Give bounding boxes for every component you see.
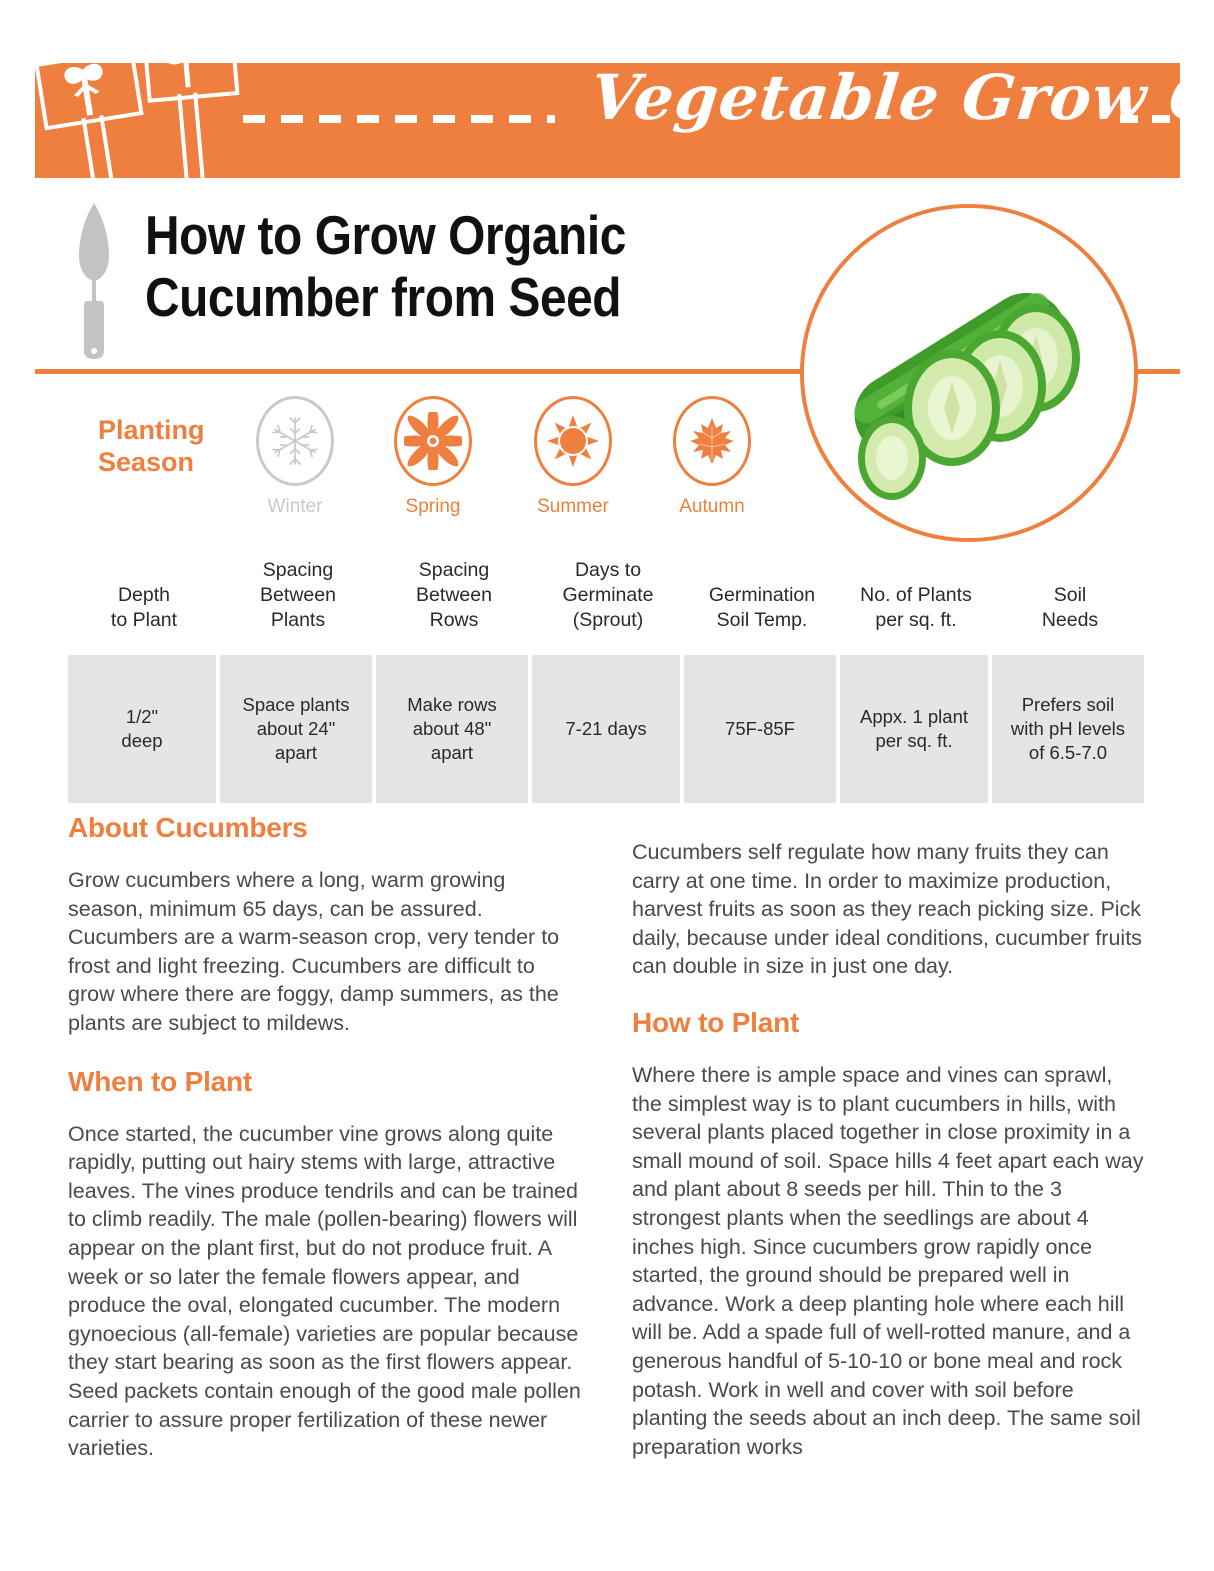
season-ring-summer <box>534 396 612 486</box>
season-summer[interactable]: Summer <box>518 396 628 518</box>
page-title: How to Grow Organic Cucumber from Seed <box>145 205 684 328</box>
season-name-autumn: Autumn <box>657 496 767 518</box>
when-to-plant-heading: When to Plant <box>68 1066 581 1098</box>
planting-season-label-line2: Season <box>98 447 248 479</box>
sprout-glyph-icon <box>157 63 215 92</box>
cucumber-photo <box>800 204 1138 542</box>
cucumber-illustration <box>804 208 1134 538</box>
facts-table-cell: 7-21 days <box>532 655 680 803</box>
season-name-winter: Winter <box>240 496 350 518</box>
facts-table-cell: Make rowsabout 48"apart <box>376 655 528 803</box>
left-column: About Cucumbers Grow cucumbers where a l… <box>68 812 581 1560</box>
facts-table-cell: 1/2"deep <box>68 655 216 803</box>
facts-table-cell: 75F-85F <box>684 655 836 803</box>
self-regulate-paragraph: Cucumbers self regulate how many fruits … <box>632 838 1145 981</box>
facts-table-header-cell: Days toGerminate(Sprout) <box>532 558 684 641</box>
facts-table-value-row: 1/2"deep Space plantsabout 24"apart Make… <box>68 655 1148 803</box>
facts-table-header-cell: Depthto Plant <box>68 558 220 641</box>
how-to-plant-heading: How to Plant <box>632 1007 1145 1039</box>
season-ring-autumn <box>673 396 751 486</box>
trowel-icon <box>72 203 116 361</box>
season-ring-spring <box>394 396 472 486</box>
season-winter[interactable]: Winter <box>240 396 350 518</box>
snowflake-icon <box>267 413 323 469</box>
garden-sign-vegetable-icon <box>35 63 144 130</box>
how-to-plant-paragraph: Where there is ample space and vines can… <box>632 1061 1145 1461</box>
facts-table: Depthto Plant SpacingBetweenPlants Spaci… <box>68 558 1148 803</box>
facts-table-cell: Space plantsabout 24"apart <box>220 655 372 803</box>
sun-icon <box>544 412 602 470</box>
season-name-spring: Spring <box>378 496 488 518</box>
facts-table-header-row: Depthto Plant SpacingBetweenPlants Spaci… <box>68 558 1148 641</box>
facts-table-header-cell: SpacingBetweenPlants <box>220 558 376 641</box>
planting-season-label: Planting Season <box>98 415 248 479</box>
page-title-line2: Cucumber from Seed <box>145 267 684 329</box>
garden-sign-icon <box>142 63 239 103</box>
maple-leaf-icon <box>687 416 737 466</box>
season-ring-winter <box>256 396 334 486</box>
facts-table-cell: Appx. 1 plantper sq. ft. <box>840 655 988 803</box>
planting-season-label-line1: Planting <box>98 415 248 447</box>
banner-script-title: Vegetable Grow Guides <box>587 63 1180 134</box>
season-autumn[interactable]: Autumn <box>657 396 767 518</box>
facts-table-header-cell: SoilNeeds <box>992 558 1148 641</box>
facts-table-header-cell: No. of Plantsper sq. ft. <box>840 558 992 641</box>
flower-icon <box>404 412 462 470</box>
dashed-line <box>243 115 555 123</box>
season-spring[interactable]: Spring <box>378 396 488 518</box>
facts-table-cell: Prefers soilwith pH levelsof 6.5-7.0 <box>992 655 1144 803</box>
season-name-summer: Summer <box>518 496 628 518</box>
about-cucumbers-heading: About Cucumbers <box>68 812 581 844</box>
facts-table-header-cell: GerminationSoil Temp. <box>684 558 840 641</box>
vegetable-glyph-icon <box>51 63 121 122</box>
right-column: Cucumbers self regulate how many fruits … <box>632 838 1145 1560</box>
about-cucumbers-paragraph: Grow cucumbers where a long, warm growin… <box>68 866 581 1038</box>
page-title-line1: How to Grow Organic <box>145 205 684 267</box>
facts-table-header-cell: SpacingBetweenRows <box>376 558 532 641</box>
when-to-plant-paragraph: Once started, the cucumber vine grows al… <box>68 1120 581 1463</box>
header-banner: Vegetable Grow Guides <box>35 63 1180 178</box>
